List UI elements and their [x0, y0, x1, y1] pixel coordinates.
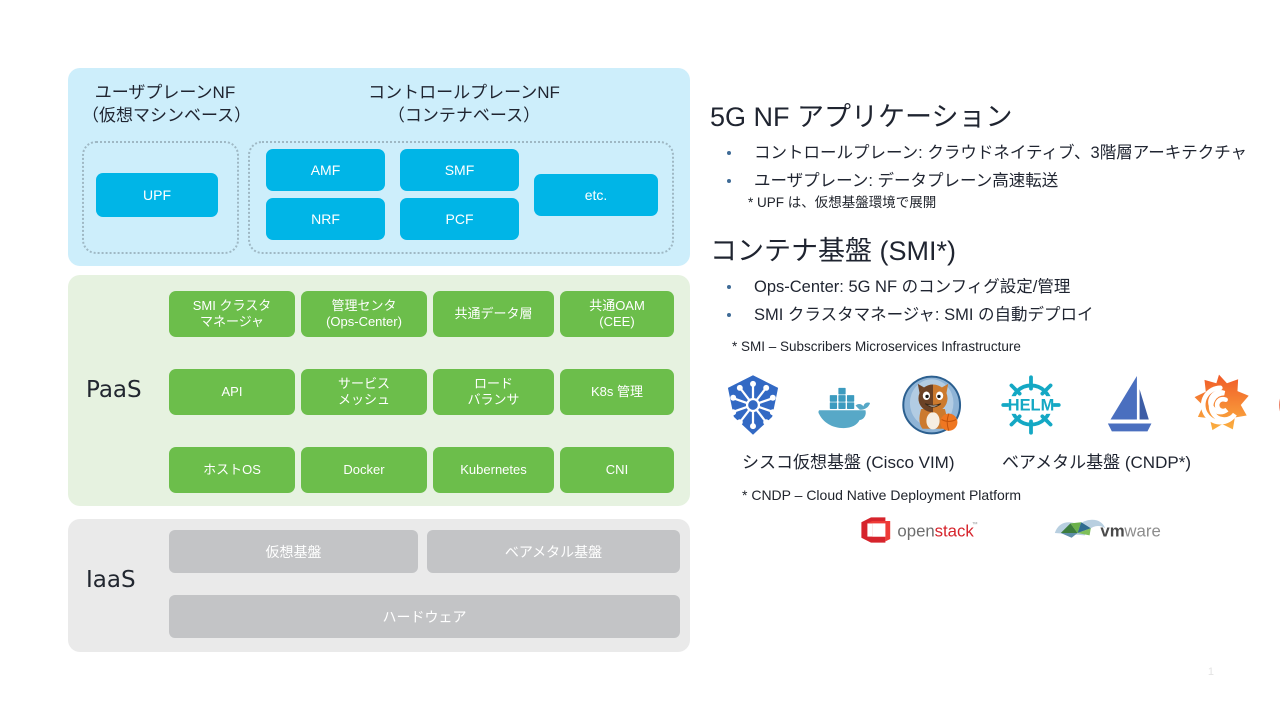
page-number: 1 [1208, 666, 1214, 678]
section-title-container-platform-smi: コンテナ基盤 (SMI*) [710, 234, 1266, 268]
grafana-logo [1186, 372, 1252, 438]
paas-box-kubernetes[interactable]: Kubernetes [433, 447, 554, 493]
architecture-stack: ユーザプレーンNF （仮想マシンベース） コントロールプレーンNF （コンテナベ… [68, 68, 690, 652]
bullet-user-plane: ユーザプレーン: データプレーン高速転送 [710, 170, 1266, 192]
paas-box-smi-cluster-manager[interactable]: SMI クラスタ マネージャ [169, 291, 295, 337]
iaas-box-hardware[interactable]: ハードウェア [169, 595, 680, 638]
paas-box-cni[interactable]: CNI [560, 447, 674, 493]
nf-box-nrf[interactable]: NRF [266, 198, 385, 240]
nf-box-upf[interactable]: UPF [96, 173, 218, 217]
svg-text:open: open [897, 522, 934, 541]
section-title-5g-nf-application: 5G NF アプリケーション [710, 100, 1266, 134]
nf-box-amf[interactable]: AMF [266, 149, 385, 191]
paas-box-host-os[interactable]: ホストOS [169, 447, 295, 493]
caption-cisco-vim: シスコ仮想基盤 (Cisco VIM) [742, 448, 1002, 473]
istio-logo [1096, 372, 1162, 438]
paas-tier-label: PaaS [86, 377, 142, 403]
nf-box-smf[interactable]: SMF [400, 149, 519, 191]
prometheus-logo [1276, 372, 1280, 438]
nf-box-etc[interactable]: etc. [534, 174, 658, 216]
openstack-logo: open stack ™ [858, 515, 980, 545]
bullet-smi-cluster-manager: SMI クラスタマネージャ: SMI の自動デプロイ [710, 304, 1266, 326]
caption-cndp: ベアメタル基盤 (CNDP*) [1002, 448, 1191, 473]
helm-logo: HELM [990, 372, 1072, 438]
bullet-list-smi: Ops-Center: 5G NF のコンフィグ設定/管理 SMI クラスタマネ… [710, 276, 1266, 326]
paas-panel: PaaS SMI クラスタ マネージャ 管理センタ (Ops-Center) 共… [68, 275, 690, 506]
iaas-tier-label: IaaS [86, 567, 136, 593]
svg-text:™: ™ [972, 521, 978, 528]
note-cndp-acronym: * CNDP – Cloud Native Deployment Platfor… [710, 486, 1266, 505]
docker-logo [810, 372, 876, 438]
control-plane-nf-heading: コントロールプレーンNF （コンテナベース） [254, 81, 674, 127]
svg-text:stack: stack [935, 522, 975, 541]
kubernetes-logo [720, 372, 786, 438]
vmware-logo: vm ware [1048, 515, 1178, 545]
paas-box-common-data-layer[interactable]: 共通データ層 [433, 291, 554, 337]
paas-box-api[interactable]: API [169, 369, 295, 415]
bullet-control-plane: コントロールプレーン: クラウドネイティブ、3階層アーキテクチャ [710, 142, 1266, 164]
svg-text:ware: ware [1123, 522, 1160, 541]
calico-logo [900, 372, 966, 438]
svg-text:HELM: HELM [1008, 397, 1054, 415]
paas-box-load-balancer[interactable]: ロード バランサ [433, 369, 554, 415]
iaas-panel: IaaS 仮想基盤 ベアメタル基盤 ハードウェア [68, 519, 690, 652]
iaas-box-virtual-infrastructure[interactable]: 仮想基盤 [169, 530, 418, 573]
iaas-box-bare-metal[interactable]: ベアメタル基盤 [427, 530, 680, 573]
technology-logo-strip: HELM [710, 372, 1266, 438]
paas-box-k8s-management[interactable]: K8s 管理 [560, 369, 674, 415]
paas-box-ops-center[interactable]: 管理センタ (Ops-Center) [301, 291, 427, 337]
nf-box-pcf[interactable]: PCF [400, 198, 519, 240]
bullet-list-5g: コントロールプレーン: クラウドネイティブ、3階層アーキテクチャ ユーザプレーン… [710, 142, 1266, 192]
note-smi-acronym: * SMI – Subscribers Microservices Infras… [710, 337, 1266, 356]
nf-panel: ユーザプレーンNF （仮想マシンベース） コントロールプレーンNF （コンテナベ… [68, 68, 690, 266]
vendor-logo-strip: open stack ™ vm ware [710, 515, 1266, 545]
right-content-column: 5G NF アプリケーション コントロールプレーン: クラウドネイティブ、3階層… [710, 100, 1266, 545]
paas-box-common-oam-cee[interactable]: 共通OAM (CEE) [560, 291, 674, 337]
paas-box-service-mesh[interactable]: サービス メッシュ [301, 369, 427, 415]
note-upf: * UPF は、仮想基盤環境で展開 [710, 193, 1266, 212]
svg-text:vm: vm [1100, 522, 1124, 541]
paas-box-docker[interactable]: Docker [301, 447, 427, 493]
user-plane-nf-heading: ユーザプレーンNF （仮想マシンベース） [82, 81, 248, 127]
infrastructure-captions: シスコ仮想基盤 (Cisco VIM) ベアメタル基盤 (CNDP*) [710, 448, 1266, 473]
bullet-ops-center: Ops-Center: 5G NF のコンフィグ設定/管理 [710, 276, 1266, 298]
